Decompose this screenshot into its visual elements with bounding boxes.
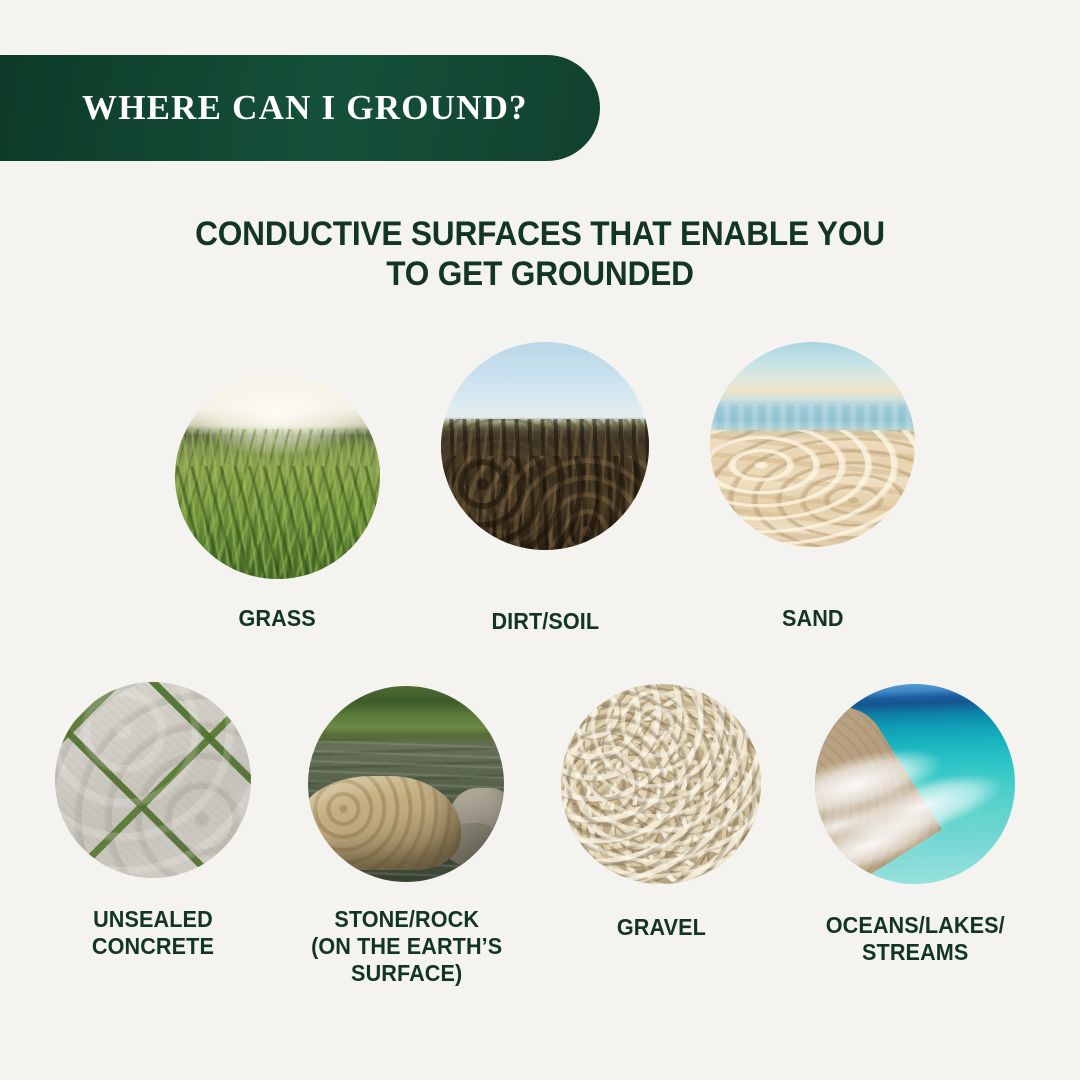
surface-item-unsealed-concrete: UNSEALED CONCRETE [55, 682, 251, 960]
surface-item-dirt-soil: DIRT/SOIL [441, 338, 649, 635]
surface-item-sand: SAND [710, 338, 915, 632]
stone-rock-image-texture [308, 686, 504, 882]
header-banner: WHERE CAN I GROUND? [0, 55, 600, 161]
surface-item-stone-rock: STONE/ROCK (ON THE EARTH’S SURFACE) [305, 682, 508, 987]
gravel-photo [561, 684, 761, 884]
main-boulder-shape [308, 776, 461, 870]
subtitle-line-1: CONDUCTIVE SURFACES THAT ENABLE YOU [195, 215, 885, 253]
surface-label-grass: GRASS [239, 605, 316, 632]
sand-image-texture [710, 342, 915, 547]
surface-item-gravel: GRAVEL [561, 682, 761, 941]
label-line-2: (ON THE EARTH’S [311, 933, 502, 960]
surface-row-1: GRASS DIRT/SOIL SAND [175, 338, 915, 635]
gravel-image-texture [561, 684, 761, 884]
label-line-2: CONCRETE [92, 933, 214, 960]
surface-row-2: UNSEALED CONCRETE STONE/ROCK (ON THE EAR… [55, 682, 1015, 987]
surface-label-dirt-soil: DIRT/SOIL [491, 608, 599, 635]
surface-item-oceans-lakes-streams: OCEANS/LAKES/ STREAMS [815, 682, 1015, 966]
label-line-1: GRAVEL [617, 914, 706, 941]
surface-item-grass: GRASS [175, 338, 380, 632]
grass-image-texture [175, 374, 380, 579]
stone-rock-photo [308, 686, 504, 882]
label-line-3: SURFACE) [311, 960, 502, 987]
unsealed-concrete-image-texture [55, 682, 251, 878]
sand-photo [710, 342, 915, 547]
surface-label-unsealed-concrete: UNSEALED CONCRETE [92, 906, 214, 960]
oceans-lakes-streams-photo [815, 684, 1015, 884]
dirt-soil-photo [441, 342, 649, 550]
surface-label-sand: SAND [782, 605, 844, 632]
label-line-1: OCEANS/LAKES/ [825, 912, 1004, 939]
unsealed-concrete-photo [55, 682, 251, 878]
surface-label-oceans-lakes-streams: OCEANS/LAKES/ STREAMS [825, 912, 1004, 966]
surface-label-gravel: GRAVEL [617, 914, 706, 941]
surface-label-stone-rock: STONE/ROCK (ON THE EARTH’S SURFACE) [311, 906, 502, 987]
subtitle-line-2: TO GET GROUNDED [38, 254, 1042, 294]
label-line-1: STONE/ROCK [311, 906, 502, 933]
label-line-1: UNSEALED [92, 906, 214, 933]
ocean-image-texture [815, 684, 1015, 884]
dirt-soil-image-texture [441, 342, 649, 550]
grass-photo [175, 374, 380, 579]
label-line-2: STREAMS [825, 939, 1004, 966]
page-title: WHERE CAN I GROUND? [0, 88, 528, 128]
subtitle: CONDUCTIVE SURFACES THAT ENABLE YOU TO G… [38, 214, 1042, 294]
